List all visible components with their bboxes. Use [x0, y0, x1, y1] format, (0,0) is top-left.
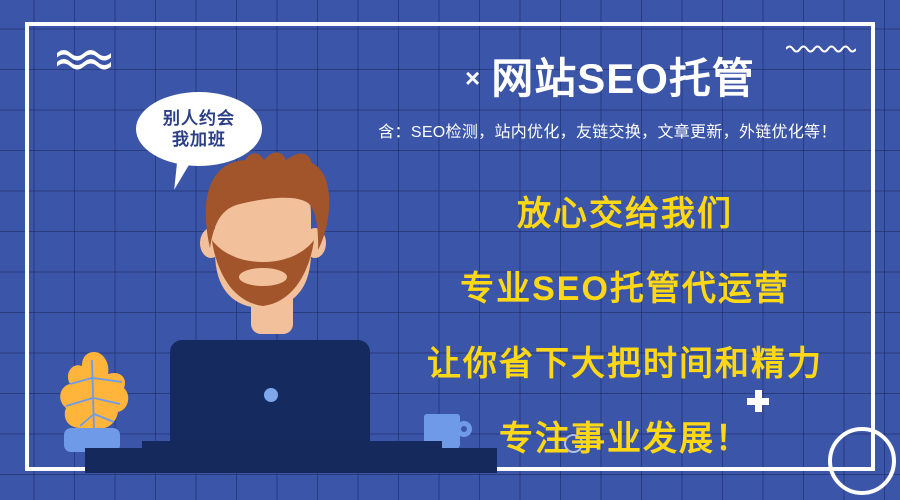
potted-plant-icon: [58, 348, 134, 440]
seo-hosting-poster: ×网站SEO托管 含：SEO检测，站内优化，友链交换，文章更新，外链优化等！ 放…: [0, 0, 900, 500]
laptop-logo-dot-icon: [264, 388, 278, 402]
desk-surface: [85, 448, 497, 473]
